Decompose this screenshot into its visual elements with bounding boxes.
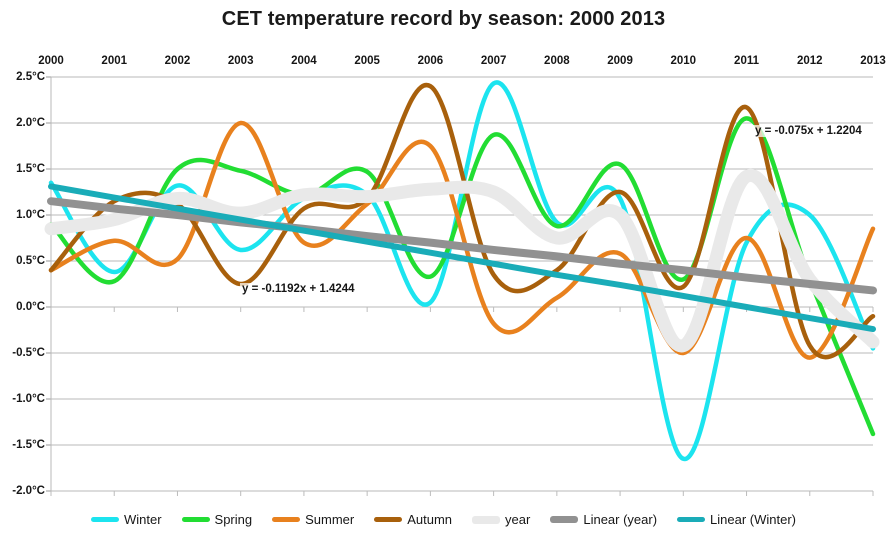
legend-color-swatch	[272, 517, 300, 522]
y-axis-tick-label: 2.0°C	[1, 117, 45, 129]
y-axis-tick-label: 0.5°C	[1, 255, 45, 267]
legend-item-label: Summer	[305, 512, 354, 527]
legend-color-swatch	[91, 517, 119, 522]
legend-item-linear-winter[interactable]: Linear (Winter)	[677, 512, 796, 527]
x-axis-tick-label: 2012	[780, 55, 840, 67]
plot-area: 2.5°C2.0°C1.5°C1.0°C0.5°C0.0°C-0.5°C-1.0…	[51, 77, 873, 491]
legend-item-summer[interactable]: Summer	[272, 512, 354, 527]
x-axis-tick-label: 2001	[84, 55, 144, 67]
y-axis-tick-label: -0.5°C	[1, 347, 45, 359]
x-axis-tick-label: 2013	[843, 55, 887, 67]
legend-color-swatch	[677, 517, 705, 522]
legend-item-autumn[interactable]: Autumn	[374, 512, 452, 527]
legend-item-winter[interactable]: Winter	[91, 512, 162, 527]
legend-color-swatch	[550, 516, 578, 523]
y-axis-tick-label: 1.5°C	[1, 163, 45, 175]
chart-container: CET temperature record by season: 2000 2…	[0, 0, 887, 541]
legend-item-label: Linear (year)	[583, 512, 657, 527]
legend-item-label: Spring	[215, 512, 253, 527]
y-axis-tick-label: -1.5°C	[1, 439, 45, 451]
y-axis-tick-label: -2.0°C	[1, 485, 45, 497]
chart-title: CET temperature record by season: 2000 2…	[0, 8, 887, 31]
legend-item-label: Winter	[124, 512, 162, 527]
legend-item-year[interactable]: year	[472, 512, 530, 527]
winter-trend-equation-label: y = -0.1192x + 1.4244	[240, 283, 357, 295]
x-axis-tick-label: 2007	[464, 55, 524, 67]
y-axis-tick-label: 1.0°C	[1, 209, 45, 221]
x-axis-tick-label: 2008	[527, 55, 587, 67]
legend-color-swatch	[472, 516, 500, 524]
x-axis-tick-label: 2011	[717, 55, 777, 67]
x-axis-tick-label: 2003	[211, 55, 271, 67]
legend-item-linear-year[interactable]: Linear (year)	[550, 512, 657, 527]
y-axis-tick-label: -1.0°C	[1, 393, 45, 405]
y-axis-tick-label: 2.5°C	[1, 71, 45, 83]
y-axis-tick-label: 0.0°C	[1, 301, 45, 313]
x-axis-tick-label: 2000	[21, 55, 81, 67]
legend-item-label: Autumn	[407, 512, 452, 527]
legend-color-swatch	[182, 517, 210, 522]
legend-color-swatch	[374, 517, 402, 522]
year-trend-equation-label: y = -0.075x + 1.2204	[753, 125, 864, 137]
x-axis-tick-label: 2009	[590, 55, 650, 67]
legend-item-spring[interactable]: Spring	[182, 512, 253, 527]
legend-item-label: year	[505, 512, 530, 527]
legend-item-label: Linear (Winter)	[710, 512, 796, 527]
x-axis-tick-label: 2002	[147, 55, 207, 67]
x-axis-tick-label: 2006	[400, 55, 460, 67]
x-axis-tick-label: 2010	[653, 55, 713, 67]
chart-legend: WinterSpringSummerAutumnyearLinear (year…	[0, 512, 887, 527]
x-axis-tick-label: 2004	[274, 55, 334, 67]
x-axis-tick-label: 2005	[337, 55, 397, 67]
